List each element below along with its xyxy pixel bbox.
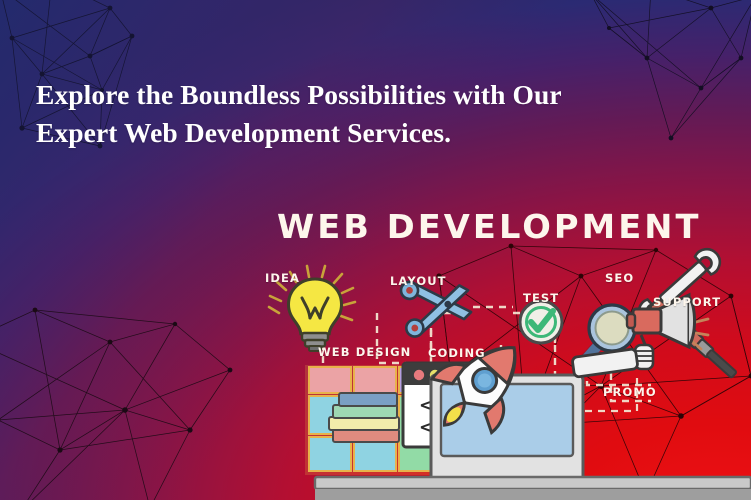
label-test: TEST: [523, 291, 559, 305]
headline-line-1: Explore the Boundless Possibilities with…: [36, 76, 696, 114]
book-stack-icon: [329, 393, 399, 442]
web-development-infographic: WEB DEVELOPMENT: [255, 195, 751, 500]
label-idea: IDEA: [265, 271, 300, 285]
desk-surface: [315, 477, 751, 500]
window-dot-red: [414, 370, 424, 380]
label-promo: PROMO: [603, 385, 657, 399]
label-coding: CODING: [428, 346, 486, 360]
label-support: SUPPORT: [653, 295, 721, 309]
banner-root: Explore the Boundless Possibilities with…: [0, 0, 751, 500]
headline-line-2: Expert Web Development Services.: [36, 114, 696, 152]
label-web-design: WEB DESIGN: [318, 345, 411, 359]
label-seo: SEO: [605, 271, 634, 285]
label-layout: LAYOUT: [390, 274, 447, 288]
page-title: Explore the Boundless Possibilities with…: [36, 76, 696, 152]
check-circle-icon: [520, 301, 562, 343]
